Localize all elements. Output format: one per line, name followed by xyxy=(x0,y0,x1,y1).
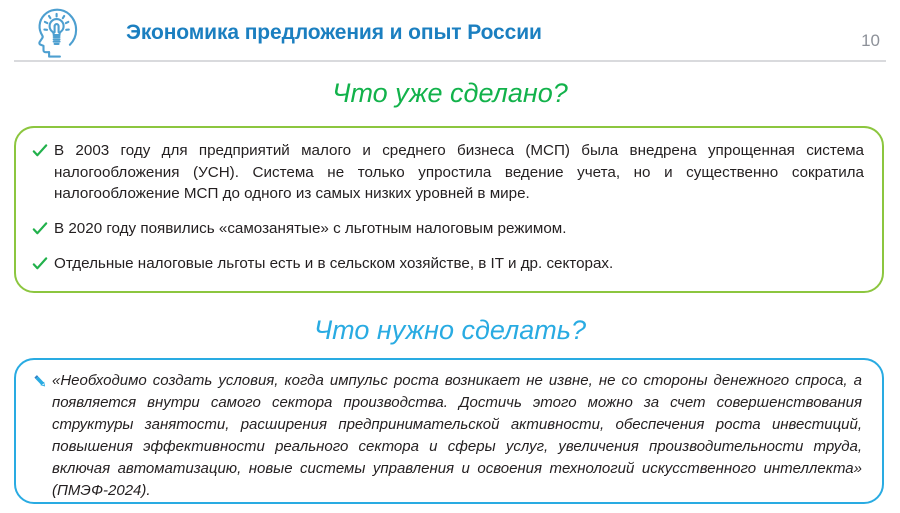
head-lightbulb-icon xyxy=(28,4,84,60)
slide: Экономика предложения и опыт России 10 Ч… xyxy=(0,0,900,513)
slide-header: Экономика предложения и опыт России 10 xyxy=(0,0,900,62)
check-icon xyxy=(32,143,48,162)
pencil-icon xyxy=(32,373,48,392)
list-item-text: В 2020 году появились «самозанятые» с ль… xyxy=(54,218,864,240)
check-icon xyxy=(32,221,48,240)
quote-box: «Необходимо создать условия, когда импул… xyxy=(14,358,884,504)
header-divider xyxy=(14,60,886,62)
list-item: В 2003 году для предприятий малого и сре… xyxy=(32,140,864,205)
section-heading-todo: Что нужно сделать? xyxy=(0,315,900,346)
list-item-text: В 2003 году для предприятий малого и сре… xyxy=(54,140,864,205)
page-number: 10 xyxy=(861,31,880,51)
list-item: В 2020 году появились «самозанятые» с ль… xyxy=(32,218,864,240)
list-item-text: Отдельные налоговые льготы есть и в сель… xyxy=(54,253,864,275)
section-heading-done: Что уже сделано? xyxy=(0,78,900,109)
page-title: Экономика предложения и опыт России xyxy=(126,21,542,45)
quote-row: «Необходимо создать условия, когда импул… xyxy=(32,370,862,502)
quote-text: «Необходимо создать условия, когда импул… xyxy=(52,370,862,502)
check-icon xyxy=(32,256,48,275)
list-item: Отдельные налоговые льготы есть и в сель… xyxy=(32,253,864,275)
achievements-box: В 2003 году для предприятий малого и сре… xyxy=(14,126,884,293)
